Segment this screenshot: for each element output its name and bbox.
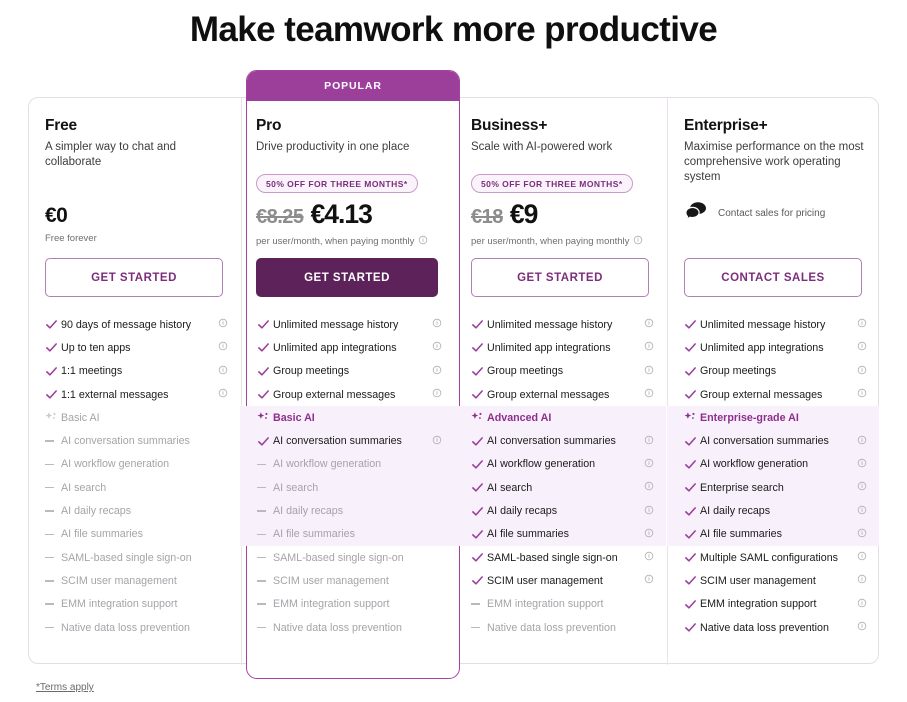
cta-button-business[interactable]: GET STARTED: [471, 258, 649, 297]
check-icon: [45, 365, 61, 378]
feature-label: AI conversation summaries: [700, 435, 857, 447]
feature-label: Basic AI: [61, 412, 228, 424]
feature-label: AI search: [273, 482, 442, 494]
feature-label: AI daily recaps: [700, 505, 857, 517]
feature-label: EMM integration support: [61, 598, 228, 610]
feature-label: 90 days of message history: [61, 319, 218, 331]
price-note: per user/month, when paying monthly: [256, 236, 414, 247]
feature-label: SCIM user management: [700, 575, 857, 587]
feature-label: EMM integration support: [273, 598, 442, 610]
info-icon[interactable]: [432, 365, 442, 378]
feature-label: AI file summaries: [61, 528, 228, 540]
info-icon[interactable]: [644, 341, 654, 354]
dash-icon: [257, 464, 273, 466]
check-icon: [471, 528, 487, 541]
feature-row: SAML-based single sign-on: [240, 546, 454, 569]
feature-row: Multiple SAML configurations: [667, 546, 879, 569]
feature-row: AI daily recaps: [667, 499, 879, 522]
feature-row: Native data loss prevention: [240, 616, 454, 639]
check-icon: [257, 341, 273, 354]
feature-list: Unlimited message historyUnlimited app i…: [667, 313, 879, 639]
info-icon[interactable]: [644, 318, 654, 331]
feature-row: Native data loss prevention: [454, 616, 666, 639]
feature-label: SAML-based single sign-on: [487, 552, 644, 564]
feature-row: SCIM user management: [240, 569, 454, 592]
info-icon[interactable]: [432, 341, 442, 354]
feature-label: AI workflow generation: [273, 458, 442, 470]
feature-row: AI file summaries: [454, 523, 666, 546]
dash-icon: [257, 580, 273, 582]
check-icon: [684, 574, 700, 587]
feature-label: AI daily recaps: [273, 505, 442, 517]
check-icon: [684, 481, 700, 494]
feature-row: 90 days of message history: [28, 313, 240, 336]
check-icon: [45, 341, 61, 354]
feature-label: Multiple SAML configurations: [700, 552, 857, 564]
info-icon[interactable]: [432, 388, 442, 401]
info-icon[interactable]: [857, 365, 867, 378]
check-icon: [471, 551, 487, 564]
feature-label: AI conversation summaries: [487, 435, 644, 447]
sparkle-icon: [45, 411, 61, 424]
info-icon[interactable]: [857, 551, 867, 564]
price-note: Free forever: [45, 233, 97, 244]
feature-row: AI search: [28, 476, 240, 499]
info-icon[interactable]: [218, 365, 228, 378]
dash-icon: [471, 627, 487, 629]
info-icon[interactable]: [857, 341, 867, 354]
info-icon[interactable]: [218, 318, 228, 331]
feature-row: AI search: [240, 476, 454, 499]
feature-label: AI workflow generation: [700, 458, 857, 470]
dash-icon: [257, 603, 273, 605]
dash-icon: [45, 534, 61, 536]
feature-row: AI conversation summaries: [28, 429, 240, 452]
feature-label: Native data loss prevention: [61, 622, 228, 634]
dash-icon: [45, 440, 61, 442]
speech-bubbles-icon: [684, 200, 710, 227]
check-icon: [471, 481, 487, 494]
feature-row: AI daily recaps: [240, 499, 454, 522]
check-icon: [257, 318, 273, 331]
feature-label: Group meetings: [487, 365, 644, 377]
feature-label: Native data loss prevention: [700, 622, 857, 634]
info-icon[interactable]: [633, 235, 643, 248]
price-block: Contact sales for pricing: [684, 200, 868, 227]
feature-label: SCIM user management: [273, 575, 442, 587]
check-icon: [45, 318, 61, 331]
check-icon: [684, 505, 700, 518]
feature-label: Up to ten apps: [61, 342, 218, 354]
feature-label: 1:1 external messages: [61, 389, 218, 401]
feature-label: AI file summaries: [487, 528, 644, 540]
info-icon[interactable]: [432, 318, 442, 331]
info-icon[interactable]: [857, 318, 867, 331]
feature-row: Group meetings: [454, 360, 666, 383]
feature-row: 1:1 external messages: [28, 383, 240, 406]
sparkle-icon: [684, 411, 700, 424]
info-icon[interactable]: [857, 574, 867, 587]
feature-row: AI workflow generation: [28, 453, 240, 476]
terms-apply-label: *Terms apply: [36, 682, 94, 693]
feature-row: Unlimited app integrations: [240, 336, 454, 359]
page-title: Make teamwork more productive: [0, 10, 907, 50]
feature-label: AI conversation summaries: [273, 435, 432, 447]
feature-row: SCIM user management: [28, 569, 240, 592]
feature-row: Enterprise search: [667, 476, 879, 499]
plan-tagline: Maximise performance on the most compreh…: [684, 140, 864, 185]
feature-label: Unlimited message history: [487, 319, 644, 331]
plan-name: Free: [45, 117, 225, 135]
feature-row: Unlimited message history: [667, 313, 879, 336]
feature-row: AI daily recaps: [28, 499, 240, 522]
feature-row: Unlimited message history: [240, 313, 454, 336]
dash-icon: [45, 627, 61, 629]
check-icon: [257, 435, 273, 448]
info-icon[interactable]: [644, 574, 654, 587]
feature-label: AI workflow generation: [61, 458, 228, 470]
feature-label: Group external messages: [487, 389, 644, 401]
feature-label: Unlimited message history: [273, 319, 432, 331]
check-icon: [471, 505, 487, 518]
info-icon[interactable]: [857, 435, 867, 448]
feature-row: 1:1 meetings: [28, 360, 240, 383]
info-icon[interactable]: [857, 528, 867, 541]
check-icon: [684, 598, 700, 611]
price-original: €8.25: [256, 206, 304, 229]
check-icon: [684, 388, 700, 401]
feature-row: AI workflow generation: [667, 453, 879, 476]
info-icon[interactable]: [218, 388, 228, 401]
dash-icon: [45, 580, 61, 582]
info-icon[interactable]: [644, 505, 654, 518]
feature-label: SCIM user management: [61, 575, 228, 587]
plan-name: Pro: [256, 117, 436, 135]
info-icon[interactable]: [644, 388, 654, 401]
feature-label: Native data loss prevention: [273, 622, 442, 634]
feature-row: Group meetings: [667, 360, 879, 383]
info-icon[interactable]: [644, 365, 654, 378]
plan-header-pro: ProDrive productivity in one place: [256, 117, 436, 155]
check-icon: [684, 551, 700, 564]
info-icon[interactable]: [857, 598, 867, 611]
feature-label: Enterprise search: [700, 482, 857, 494]
feature-label: AI daily recaps: [61, 505, 228, 517]
feature-label: AI workflow generation: [487, 458, 644, 470]
price-block: €8.25€4.13per user/month, when paying mo…: [256, 199, 440, 248]
check-icon: [45, 388, 61, 401]
info-icon[interactable]: [644, 458, 654, 471]
check-icon: [471, 365, 487, 378]
feature-row: AI search: [454, 476, 666, 499]
dash-icon: [257, 510, 273, 512]
feature-label: AI conversation summaries: [61, 435, 228, 447]
feature-label: AI search: [61, 482, 228, 494]
feature-row: Unlimited app integrations: [454, 336, 666, 359]
info-icon[interactable]: [857, 505, 867, 518]
check-icon: [684, 365, 700, 378]
info-icon[interactable]: [857, 458, 867, 471]
feature-label: Group meetings: [273, 365, 432, 377]
feature-row: AI workflow generation: [454, 453, 666, 476]
feature-label: Unlimited app integrations: [273, 342, 432, 354]
dash-icon: [257, 557, 273, 559]
terms-apply-link[interactable]: *Terms apply: [36, 682, 94, 693]
price-current: €0: [45, 204, 229, 228]
info-icon[interactable]: [857, 621, 867, 634]
cta-button-free[interactable]: GET STARTED: [45, 258, 223, 297]
check-icon: [257, 388, 273, 401]
feature-label: EMM integration support: [487, 598, 654, 610]
info-icon[interactable]: [644, 481, 654, 494]
feature-label: Native data loss prevention: [487, 622, 654, 634]
feature-label: EMM integration support: [700, 598, 857, 610]
dash-icon: [45, 510, 61, 512]
dash-icon: [45, 557, 61, 559]
feature-row: AI workflow generation: [240, 453, 454, 476]
cta-button-pro[interactable]: GET STARTED: [256, 258, 438, 297]
feature-row: SAML-based single sign-on: [454, 546, 666, 569]
feature-row: EMM integration support: [28, 593, 240, 616]
check-icon: [471, 318, 487, 331]
plan-header-free: FreeA simpler way to chat and collaborat…: [45, 117, 225, 170]
check-icon: [471, 574, 487, 587]
plan-name: Business+: [471, 117, 651, 135]
info-icon[interactable]: [644, 528, 654, 541]
feature-label: Unlimited app integrations: [487, 342, 644, 354]
feature-row: Native data loss prevention: [667, 616, 879, 639]
feature-row: AI file summaries: [28, 523, 240, 546]
feature-label: Advanced AI: [487, 412, 654, 424]
feature-row: Group meetings: [240, 360, 454, 383]
info-icon[interactable]: [857, 481, 867, 494]
feature-row: AI file summaries: [667, 523, 879, 546]
price-note: per user/month, when paying monthly: [471, 236, 629, 247]
info-icon[interactable]: [432, 435, 442, 448]
feature-list: 90 days of message historyUp to ten apps…: [28, 313, 240, 639]
contact-price-text: Contact sales for pricing: [718, 208, 825, 219]
feature-label: SAML-based single sign-on: [61, 552, 228, 564]
feature-row: Native data loss prevention: [28, 616, 240, 639]
feature-list: Unlimited message historyUnlimited app i…: [454, 313, 666, 639]
check-icon: [471, 388, 487, 401]
check-icon: [684, 528, 700, 541]
feature-row: EMM integration support: [667, 593, 879, 616]
feature-label: SCIM user management: [487, 575, 644, 587]
feature-row: SCIM user management: [667, 569, 879, 592]
sparkle-icon: [257, 411, 273, 424]
dash-icon: [257, 487, 273, 489]
feature-row: Group external messages: [454, 383, 666, 406]
feature-label: AI file summaries: [700, 528, 857, 540]
dash-icon: [45, 603, 61, 605]
feature-label: Basic AI: [273, 412, 442, 424]
feature-list: Unlimited message historyUnlimited app i…: [240, 313, 454, 639]
plan-tagline: A simpler way to chat and collaborate: [45, 140, 225, 170]
feature-row: SAML-based single sign-on: [28, 546, 240, 569]
feature-label: AI search: [487, 482, 644, 494]
price-block: €18€9per user/month, when paying monthly: [471, 199, 655, 248]
check-icon: [471, 341, 487, 354]
check-icon: [684, 341, 700, 354]
pricing-page: Make teamwork more productive POPULAR *T…: [0, 0, 907, 702]
dash-icon: [45, 487, 61, 489]
feature-row: Up to ten apps: [28, 336, 240, 359]
feature-label: Group external messages: [273, 389, 432, 401]
feature-row: Group external messages: [667, 383, 879, 406]
plan-name: Enterprise+: [684, 117, 864, 135]
info-icon[interactable]: [857, 388, 867, 401]
price-current: €9: [510, 199, 537, 230]
feature-row: EMM integration support: [240, 593, 454, 616]
check-icon: [684, 621, 700, 634]
info-icon[interactable]: [218, 341, 228, 354]
feature-label: Group external messages: [700, 389, 857, 401]
feature-label: 1:1 meetings: [61, 365, 218, 377]
feature-row: Unlimited app integrations: [667, 336, 879, 359]
feature-row: AI file summaries: [240, 523, 454, 546]
dash-icon: [257, 627, 273, 629]
feature-row: Unlimited message history: [454, 313, 666, 336]
cta-button-enterprise[interactable]: CONTACT SALES: [684, 258, 862, 297]
feature-row: AI conversation summaries: [667, 429, 879, 452]
check-icon: [257, 365, 273, 378]
info-icon[interactable]: [644, 551, 654, 564]
dash-icon: [257, 534, 273, 536]
feature-section-heading: Basic AI: [240, 406, 454, 429]
feature-label: Group meetings: [700, 365, 857, 377]
check-icon: [471, 458, 487, 471]
dash-icon: [471, 603, 487, 605]
info-icon[interactable]: [418, 235, 428, 248]
check-icon: [471, 435, 487, 448]
feature-row: EMM integration support: [454, 593, 666, 616]
plan-header-enterprise: Enterprise+Maximise performance on the m…: [684, 117, 864, 185]
feature-label: AI file summaries: [273, 528, 442, 540]
price-current: €4.13: [311, 199, 372, 230]
popular-badge: POPULAR: [247, 71, 459, 101]
check-icon: [684, 318, 700, 331]
info-icon[interactable]: [644, 435, 654, 448]
feature-label: Unlimited message history: [700, 319, 857, 331]
feature-row: Group external messages: [240, 383, 454, 406]
feature-row: AI daily recaps: [454, 499, 666, 522]
feature-section-heading: Enterprise-grade AI: [667, 406, 879, 429]
discount-badge: 50% OFF FOR THREE MONTHS*: [256, 174, 418, 193]
plan-tagline: Scale with AI-powered work: [471, 140, 651, 155]
price-block: €0Free forever: [45, 204, 229, 244]
feature-row: AI conversation summaries: [454, 429, 666, 452]
plan-tagline: Drive productivity in one place: [256, 140, 436, 155]
check-icon: [684, 458, 700, 471]
plan-header-business: Business+Scale with AI-powered work: [471, 117, 651, 155]
feature-label: SAML-based single sign-on: [273, 552, 442, 564]
check-icon: [684, 435, 700, 448]
discount-badge: 50% OFF FOR THREE MONTHS*: [471, 174, 633, 193]
feature-row: SCIM user management: [454, 569, 666, 592]
sparkle-icon: [471, 411, 487, 424]
price-original: €18: [471, 206, 503, 229]
feature-label: Enterprise-grade AI: [700, 412, 867, 424]
feature-row: AI conversation summaries: [240, 429, 454, 452]
dash-icon: [45, 464, 61, 466]
feature-section-heading: Basic AI: [28, 406, 240, 429]
feature-label: AI daily recaps: [487, 505, 644, 517]
feature-section-heading: Advanced AI: [454, 406, 666, 429]
feature-label: Unlimited app integrations: [700, 342, 857, 354]
